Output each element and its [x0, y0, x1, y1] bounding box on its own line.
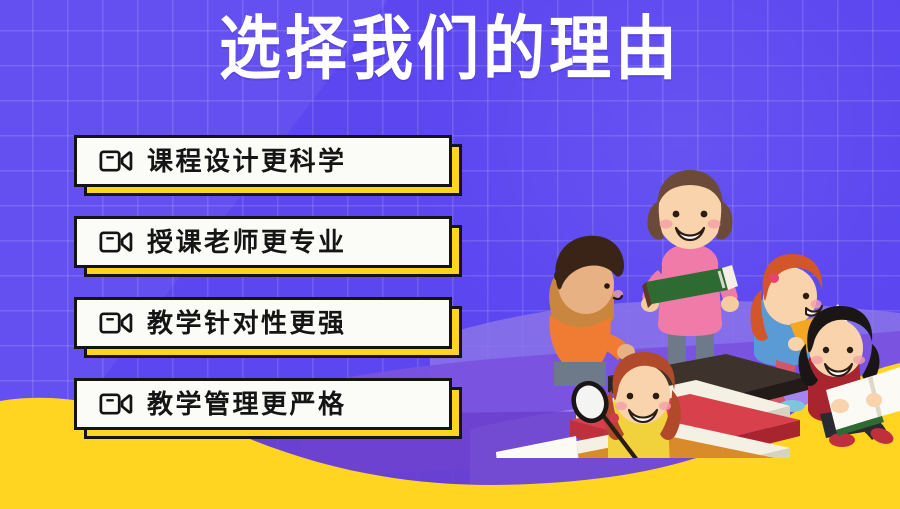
- video-camera-icon: [99, 391, 133, 417]
- feature-label: 课程设计更科学: [147, 146, 347, 176]
- feature-card[interactable]: 教学管理更严格: [74, 378, 452, 430]
- children-reading-illustration: [490, 118, 900, 458]
- boy-red-sweater-reading: [799, 306, 900, 447]
- feature-item[interactable]: 课程设计更科学: [74, 135, 452, 187]
- poster-canvas: 选择我们的理由 课程设计更科学 授课老师: [0, 0, 900, 509]
- feature-list: 课程设计更科学 授课老师更专业 教学: [74, 135, 452, 459]
- feature-card[interactable]: 课程设计更科学: [74, 135, 452, 187]
- feature-item[interactable]: 教学管理更严格: [74, 378, 452, 430]
- feature-label: 教学管理更严格: [147, 389, 347, 419]
- feature-card[interactable]: 教学针对性更强: [74, 297, 452, 349]
- video-camera-icon: [99, 148, 133, 174]
- girl-standing-with-green-book: [641, 170, 739, 384]
- feature-label: 授课老师更专业: [147, 227, 347, 257]
- feature-card[interactable]: 授课老师更专业: [74, 216, 452, 268]
- feature-item[interactable]: 教学针对性更强: [74, 297, 452, 349]
- feature-item[interactable]: 授课老师更专业: [74, 216, 452, 268]
- video-camera-icon: [99, 229, 133, 255]
- video-camera-icon: [99, 310, 133, 336]
- feature-label: 教学针对性更强: [147, 308, 347, 338]
